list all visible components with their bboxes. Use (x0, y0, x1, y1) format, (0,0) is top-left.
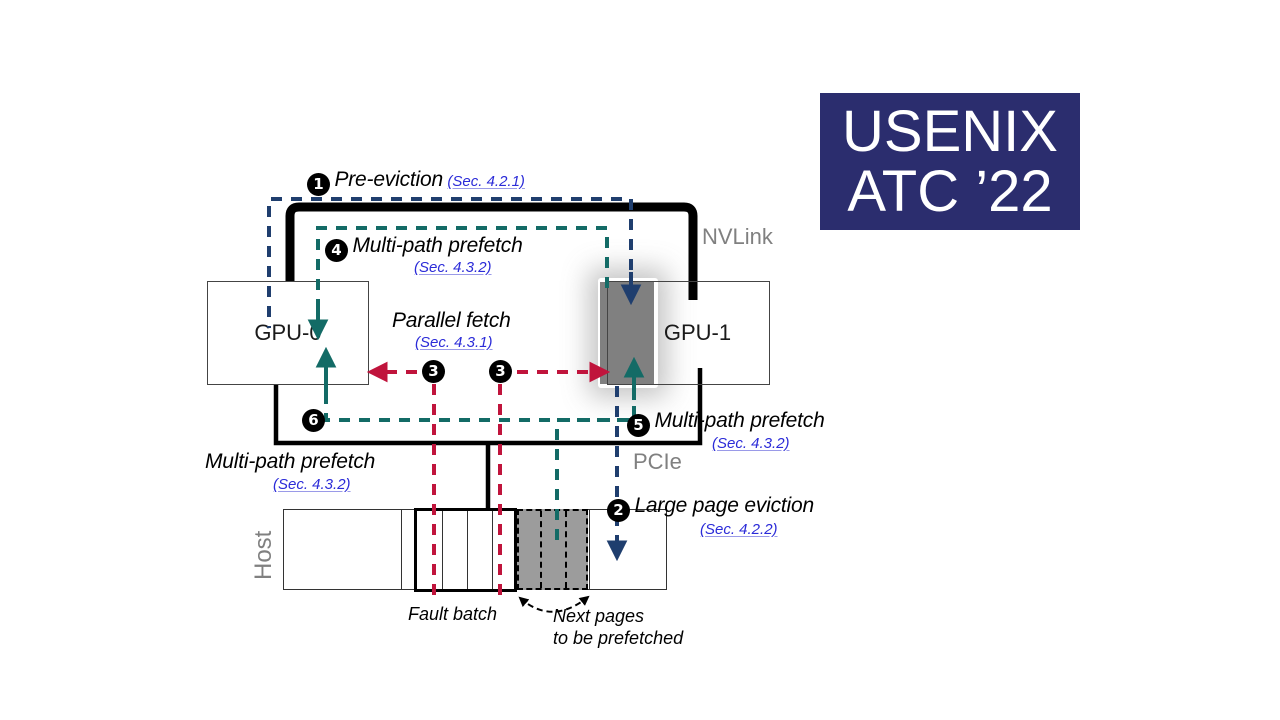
step-label-large-page-eviction: 2 Large page eviction (607, 494, 814, 522)
step-sec-4: (Sec. 4.3.2) (414, 259, 492, 276)
step-text-6: Multi-path prefetch (205, 450, 375, 474)
step-badge-5: 5 (627, 414, 650, 437)
step-text-1: Pre-eviction (334, 168, 442, 191)
step-badge-3a: 3 (422, 360, 445, 383)
step-label-multipath-5: 5 Multi-path prefetch (627, 409, 825, 437)
step-badge-6: 6 (302, 409, 325, 432)
next-pages-caption-line2: to be prefetched (553, 628, 683, 649)
step-badge-1: 1 (307, 173, 330, 196)
step-sec-3: (Sec. 4.3.1) (415, 334, 493, 351)
step-badge-2: 2 (607, 499, 630, 522)
step-label-multipath-4: 4 Multi-path prefetch (325, 234, 523, 262)
step-sec-2: (Sec. 4.2.2) (700, 521, 778, 538)
step-badge-3b: 3 (489, 360, 512, 383)
step-label-pre-eviction: 1 Pre-eviction (Sec. 4.2.1) (307, 168, 525, 196)
flow-multipath-6 (326, 396, 630, 420)
step-sec-1: (Sec. 4.2.1) (447, 173, 525, 190)
step-text-5: Multi-path prefetch (654, 409, 824, 432)
fault-batch-caption: Fault batch (408, 604, 497, 625)
pcie-label: PCIe (633, 449, 682, 475)
step-text-2: Large page eviction (634, 494, 814, 517)
next-pages-caption-line1: Next pages (553, 606, 644, 627)
step-badge-4: 4 (325, 239, 348, 262)
step-text-4: Multi-path prefetch (352, 234, 522, 257)
figure-canvas: USENIX ATC ’22 GPU-0 GPU-1 Host (0, 0, 1280, 720)
flow-parallel-fetch-to-gpu1 (500, 372, 605, 595)
step-sec-6: (Sec. 4.3.2) (273, 476, 351, 493)
step-text-3: Parallel fetch (392, 309, 511, 333)
flow-parallel-fetch-to-gpu0 (372, 372, 434, 595)
nvlink-label: NVLink (702, 224, 773, 250)
step-sec-5: (Sec. 4.3.2) (712, 435, 790, 452)
